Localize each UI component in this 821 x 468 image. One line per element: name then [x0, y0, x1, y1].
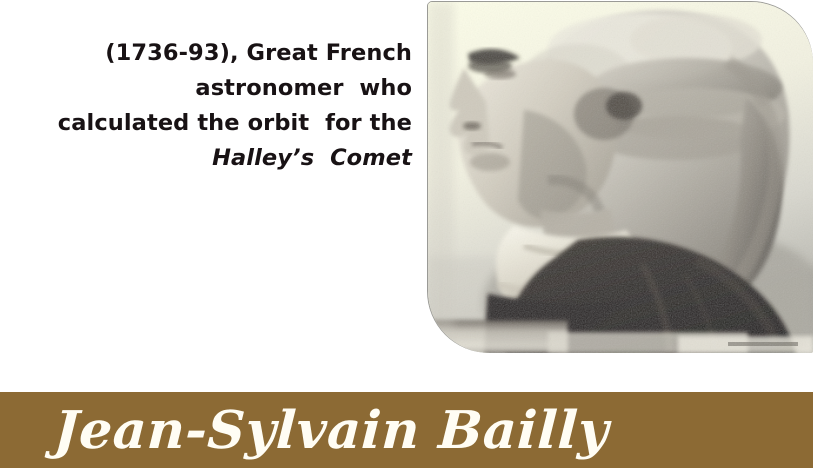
biography-text-block: (1736-93), Great French astronomer who c… — [8, 36, 412, 176]
bio-line-3: calculated the orbit for the — [8, 106, 412, 141]
name-banner: Jean-Sylvain Bailly — [0, 392, 813, 468]
person-name: Jean-Sylvain Bailly — [0, 392, 815, 468]
slide-canvas: (1736-93), Great French astronomer who c… — [0, 0, 821, 468]
portrait-frame — [428, 2, 813, 353]
bio-line-1: (1736-93), Great French — [8, 36, 412, 71]
portrait-image — [428, 2, 813, 353]
bio-line-4-halleys-comet: Halley’s Comet — [8, 141, 412, 176]
bio-line-2: astronomer who — [8, 71, 412, 106]
